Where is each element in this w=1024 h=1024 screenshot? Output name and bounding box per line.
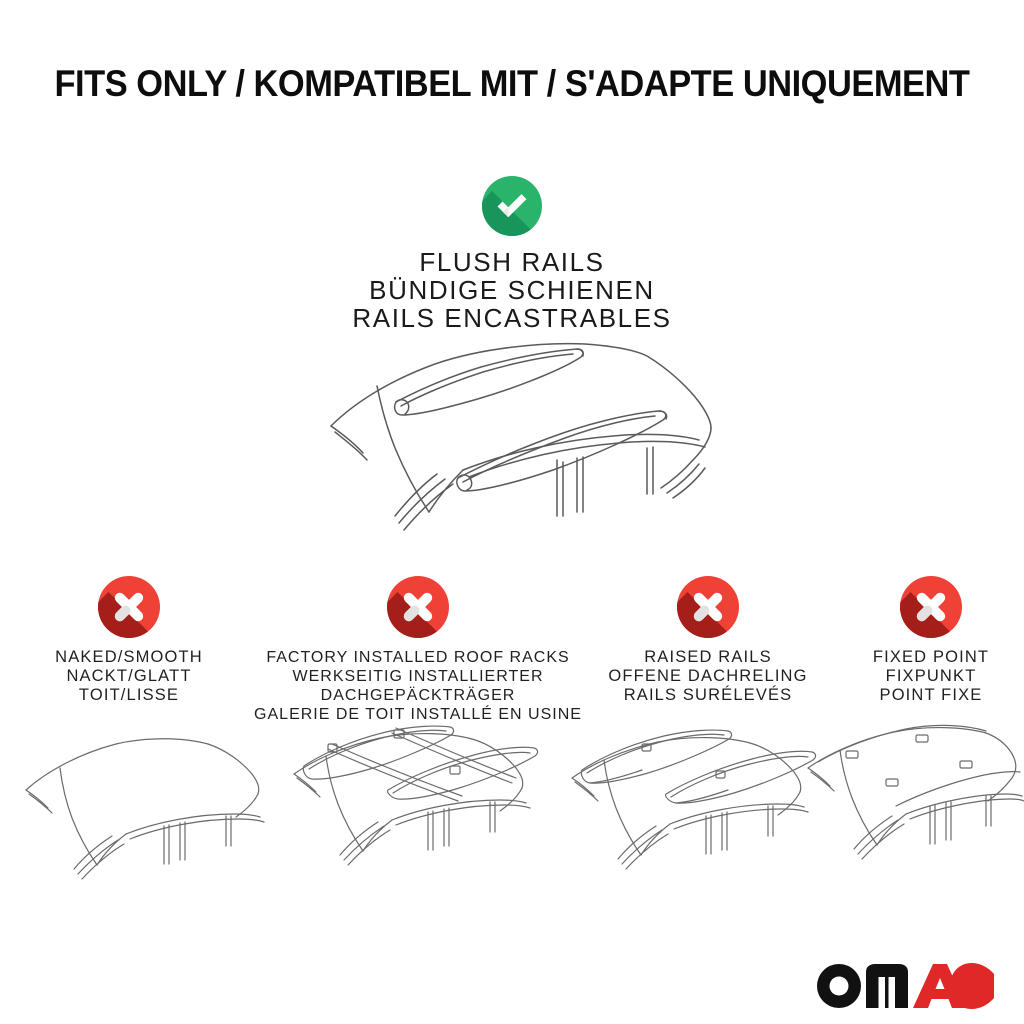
x-circle-icon [677,576,739,638]
compatible-label-fr: RAILS ENCASTRABLES [0,304,1024,332]
x-glyph [900,576,962,638]
label-line: RAISED RAILS [608,648,807,667]
x-circle-icon [900,576,962,638]
car-roof-flush-rails-illustration [295,336,735,571]
incompatible-item-raised-rails: RAISED RAILS OFFENE DACHRELING RAILS SUR… [578,576,838,705]
incompatible-item-fixed-point: FIXED POINT FIXPUNKT POINT FIXE [838,576,1024,705]
car-roof-raised-rails-illustration [558,722,830,907]
incompatible-section: NAKED/SMOOTH NACKT/GLATT TOIT/LISSE [0,576,1024,724]
car-roof-fixed-point-illustration [800,722,1024,907]
label-line: WERKSEITIG INSTALLIERTER [254,667,582,686]
car-roof-factory-rack-illustration [278,722,560,907]
label-line: FIXPUNKT [873,667,989,686]
label-line: DACHGEPÄCKTRÄGER [254,686,582,705]
incompatible-illustrations [0,722,1024,907]
compatible-label-de: BÜNDIGE SCHIENEN [0,276,1024,304]
incompatible-item-naked: NAKED/SMOOTH NACKT/GLATT TOIT/LISSE [0,576,258,705]
incompatible-labels: NAKED/SMOOTH NACKT/GLATT TOIT/LISSE [55,648,203,705]
x-glyph [387,576,449,638]
label-line: FIXED POINT [873,648,989,667]
x-glyph [677,576,739,638]
label-line: POINT FIXE [873,686,989,705]
omac-logo-o [817,964,861,1008]
label-line: NAKED/SMOOTH [55,648,203,667]
page-title: FITS ONLY / KOMPATIBEL MIT / S'ADAPTE UN… [36,62,988,106]
compatible-labels: FLUSH RAILS BÜNDIGE SCHIENEN RAILS ENCAS… [0,248,1024,332]
fitment-infographic: FITS ONLY / KOMPATIBEL MIT / S'ADAPTE UN… [0,0,1024,1024]
x-glyph [98,576,160,638]
compatible-section: FLUSH RAILS BÜNDIGE SCHIENEN RAILS ENCAS… [0,176,1024,332]
header: FITS ONLY / KOMPATIBEL MIT / S'ADAPTE UN… [0,62,1024,106]
label-line: FACTORY INSTALLED ROOF RACKS [254,648,582,667]
x-circle-icon [387,576,449,638]
x-circle-icon [98,576,160,638]
label-line: TOIT/LISSE [55,686,203,705]
incompatible-labels: FIXED POINT FIXPUNKT POINT FIXE [873,648,989,705]
label-line: NACKT/GLATT [55,667,203,686]
check-circle-icon [482,176,542,236]
check-glyph [482,176,542,236]
incompatible-item-factory-rack: FACTORY INSTALLED ROOF RACKS WERKSEITIG … [258,576,578,724]
incompatible-labels: FACTORY INSTALLED ROOF RACKS WERKSEITIG … [254,648,582,724]
label-line: RAILS SURÉLEVÉS [608,686,807,705]
omac-logo: OMAC [816,964,994,1008]
compatible-label-en: FLUSH RAILS [0,248,1024,276]
car-roof-naked-illustration [8,722,270,907]
label-line: OFFENE DACHRELING [608,667,807,686]
incompatible-labels: RAISED RAILS OFFENE DACHRELING RAILS SUR… [608,648,807,705]
omac-logo-c [950,963,994,1009]
omac-logo-m [866,964,908,1008]
